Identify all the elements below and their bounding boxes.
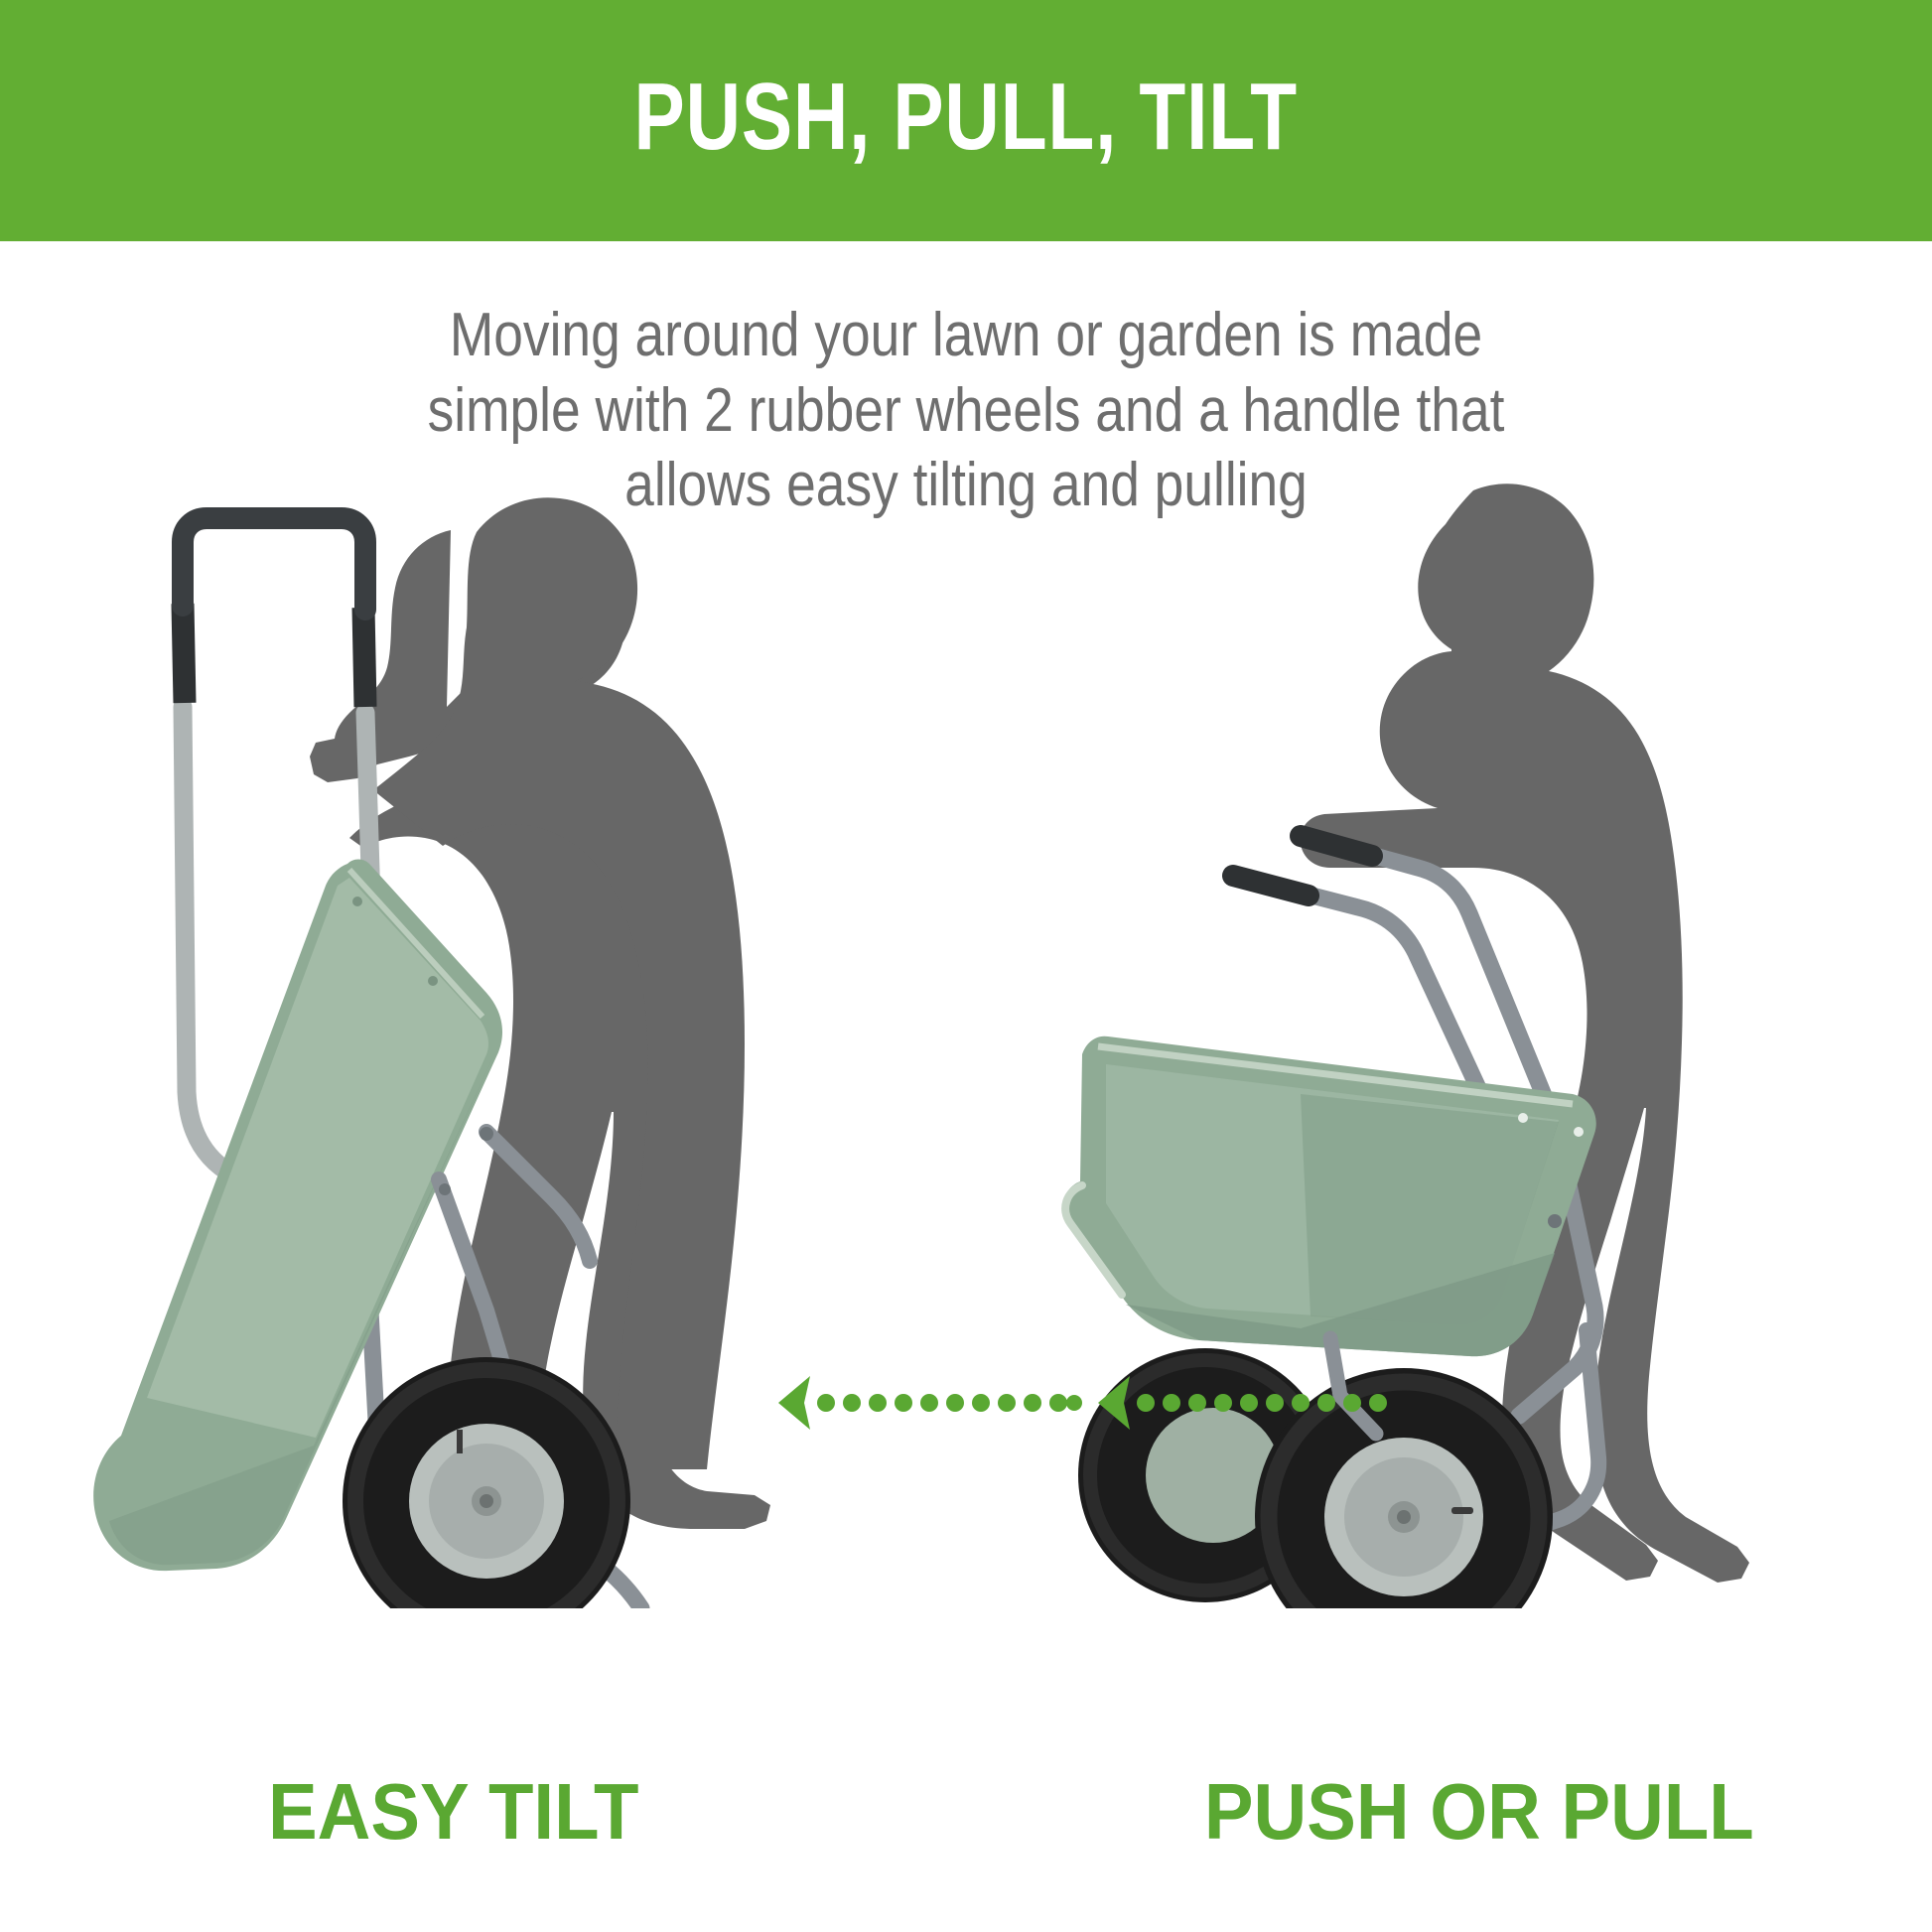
dotted-arrow-left-2	[1098, 1376, 1387, 1430]
axle-bolt	[480, 1494, 493, 1508]
handle-grip-lower	[1233, 876, 1309, 896]
rubber-sleeve-right	[363, 608, 365, 707]
valve-stem-near	[1451, 1507, 1473, 1514]
tub-rivet-top	[352, 897, 362, 906]
tub-rivet-right	[1518, 1113, 1528, 1123]
footer-labels: EASY TILT PUSH OR PULL	[0, 1757, 1932, 1866]
arrowhead-1	[778, 1376, 810, 1430]
dotted-arrow-left-1	[778, 1376, 1082, 1430]
rubber-sleeve-left	[183, 604, 185, 703]
valve-stem	[457, 1430, 463, 1453]
caption-push-or-pull: PUSH OR PULL	[1204, 1766, 1754, 1858]
u-handle-bar	[183, 518, 365, 610]
footer-cell-left: EASY TILT	[0, 1757, 966, 1866]
frame-bolt-near	[1548, 1214, 1562, 1228]
page-title: PUSH, PULL, TILT	[634, 69, 1298, 173]
footer-cell-right: PUSH OR PULL	[966, 1757, 1932, 1866]
caption-easy-tilt: EASY TILT	[268, 1766, 638, 1858]
dotted-arrow-group	[764, 1368, 1400, 1438]
axle-bolt-near	[1397, 1510, 1411, 1524]
wheelbarrow-upright	[1063, 836, 1598, 1608]
frame-bolt-1	[480, 1127, 493, 1141]
header-banner: PUSH, PULL, TILT	[0, 0, 1932, 241]
telescoping-tube-left	[183, 707, 234, 1175]
frame-bolt-2	[439, 1183, 451, 1195]
product-illustration-area	[0, 516, 1932, 1688]
tub-rivet-mid	[428, 976, 438, 986]
description-line-1: Moving around your lawn or garden is mad…	[135, 298, 1797, 373]
arrowhead-2	[1098, 1376, 1130, 1430]
tub-rivet-far	[1574, 1127, 1584, 1137]
